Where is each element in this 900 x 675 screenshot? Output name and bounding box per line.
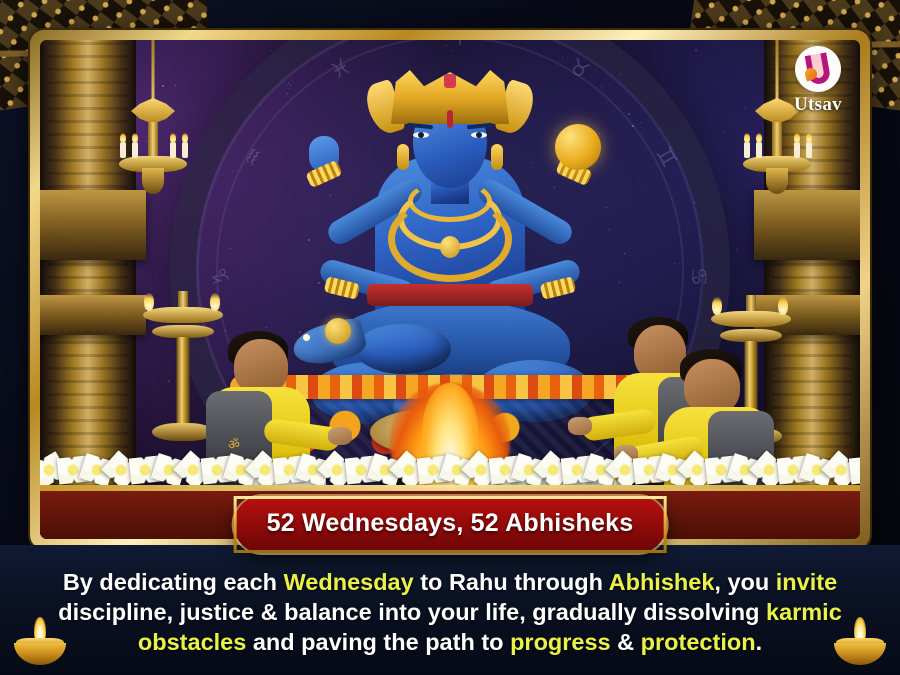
crown-jewel <box>444 74 456 88</box>
eye-right <box>471 132 487 138</box>
caption-text: , you <box>714 569 775 595</box>
pillar-capital <box>40 190 146 260</box>
caption-highlight: karmic <box>766 599 842 625</box>
waist-sash <box>367 284 533 306</box>
priest-hand <box>328 427 352 445</box>
deepam-flame <box>210 293 220 311</box>
golden-orb <box>555 124 601 170</box>
caption-text: & <box>611 629 641 655</box>
zodiac-symbol: ♊ <box>650 142 682 172</box>
star <box>724 131 725 132</box>
candle-flame <box>794 133 800 143</box>
candle-flame <box>806 133 812 143</box>
brand-logo[interactable]: Utsav <box>772 46 864 116</box>
headline-badge: 52 Wednesdays, 52 Abhisheks <box>234 496 667 553</box>
chandelier-bottom <box>766 168 788 194</box>
star <box>160 220 161 221</box>
chandelier-candle <box>132 142 138 158</box>
frangipani-garland <box>40 451 860 483</box>
pillar-band <box>40 295 146 335</box>
pillar-capital <box>754 190 860 260</box>
caption-highlight: invite <box>776 569 837 595</box>
garland-flower <box>849 456 860 485</box>
chandelier-candle <box>120 142 126 158</box>
caption-highlight: progress <box>510 629 611 655</box>
chandelier-candle <box>806 142 812 158</box>
caption-highlight: Wednesday <box>284 569 414 595</box>
artwork-area: ♈♉♊♋♌♍♎♏♐♑♒♓ <box>40 40 860 539</box>
zodiac-symbol: ♒ <box>238 142 270 172</box>
plinth-gold-edge <box>40 485 860 491</box>
caption-text: By dedicating each <box>63 569 284 595</box>
chandelier-candle <box>794 142 800 158</box>
badge-label: 52 Wednesdays, 52 Abhisheks <box>267 509 634 538</box>
caption-line-2: discipline, justice & balance into your … <box>58 597 842 627</box>
caption-text: discipline, justice & balance into your … <box>58 599 766 625</box>
diya-lamp-left <box>14 623 66 665</box>
candle-flame <box>182 133 188 143</box>
caption-highlight: Abhishek <box>609 569 715 595</box>
deepam-flame <box>712 297 722 315</box>
diya-bowl <box>834 643 886 665</box>
poster-canvas: ♈♉♊♋♌♍♎♏♐♑♒♓ <box>0 0 900 675</box>
chandelier-bottom <box>142 168 164 194</box>
candle-flame <box>132 133 138 143</box>
caption-line-1: By dedicating each Wednesday to Rahu thr… <box>63 567 837 597</box>
deepam-flame <box>144 293 154 311</box>
artwork-gold-frame: ♈♉♊♋♌♍♎♏♐♑♒♓ <box>30 30 870 549</box>
caption-text: . <box>756 629 763 655</box>
diya-lamp-right <box>834 623 886 665</box>
chandelier-candle <box>182 142 188 158</box>
chandelier-chain <box>152 40 155 102</box>
deepam-flame <box>778 297 788 315</box>
chandelier-candle <box>744 142 750 158</box>
caption-text: and paving the path to <box>246 629 510 655</box>
candle-flame <box>120 133 126 143</box>
star <box>695 49 697 51</box>
chandelier-finial <box>131 98 175 124</box>
forehead-tilak <box>447 110 453 128</box>
eye-left <box>413 132 429 138</box>
chandelier-candle <box>170 142 176 158</box>
earring-right <box>491 144 503 170</box>
necklace-pendant <box>440 236 460 258</box>
caption-highlight: obstacles <box>138 629 246 655</box>
caption-block: By dedicating each Wednesday to Rahu thr… <box>0 545 900 675</box>
chandelier-candle <box>756 142 762 158</box>
zodiac-symbol: ♋ <box>685 266 710 286</box>
brand-name: Utsav <box>772 94 864 116</box>
caption-line-3: obstacles and paving the path to progres… <box>138 627 762 657</box>
candle-flame <box>756 133 762 143</box>
star <box>270 50 271 51</box>
hanging-chandelier-left <box>118 40 188 190</box>
caption-highlight: protection <box>641 629 756 655</box>
candle-flame <box>744 133 750 143</box>
zodiac-symbol: ♑ <box>209 266 234 286</box>
utsav-logo-icon <box>795 46 841 92</box>
star <box>736 249 737 250</box>
earring-left <box>397 144 409 170</box>
candle-flame <box>170 133 176 143</box>
diya-bowl <box>14 643 66 665</box>
caption-text: to Rahu through <box>414 569 609 595</box>
priest-hand <box>568 417 592 435</box>
